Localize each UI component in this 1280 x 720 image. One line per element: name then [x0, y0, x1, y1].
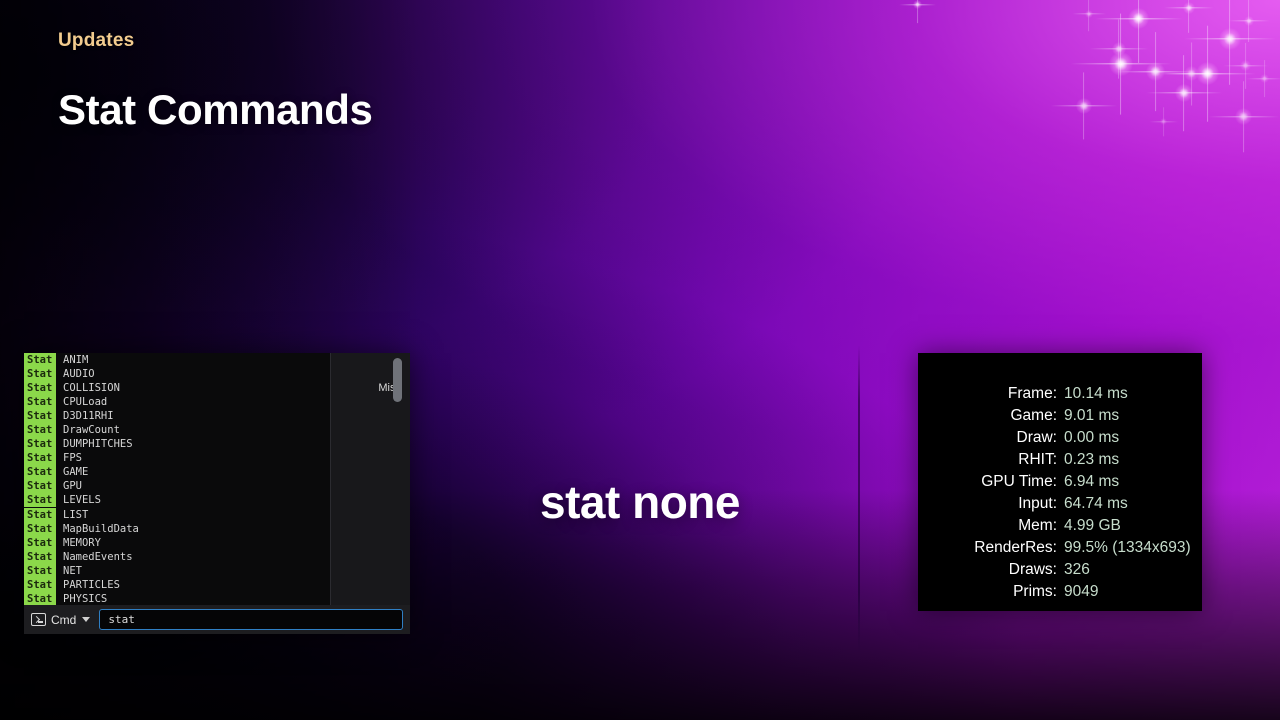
suggestion-category-tag: Stat — [24, 508, 56, 522]
stat-row: Mem:4.99 GB — [918, 517, 1202, 539]
suggestion-category-tag: Stat — [24, 395, 56, 409]
suggestion-row[interactable]: StatCPULoad — [24, 395, 330, 409]
console-command-input-value: stat — [108, 613, 135, 626]
stat-value: 9049 — [1057, 583, 1202, 601]
stat-row: Draw:0.00 ms — [918, 429, 1202, 451]
suggestion-row[interactable]: StatGPU — [24, 479, 330, 493]
suggestion-category-tag: Stat — [24, 493, 56, 507]
stat-row: Frame:10.14 ms — [918, 385, 1202, 407]
suggestion-row[interactable]: StatNamedEvents — [24, 550, 330, 564]
suggestion-row[interactable]: StatGAME — [24, 465, 330, 479]
suggestion-category-tag: Stat — [24, 437, 56, 451]
stat-row: RHIT:0.23 ms — [918, 451, 1202, 473]
suggestion-row[interactable]: StatAUDIO — [24, 367, 330, 381]
suggestion-command-name: NamedEvents — [56, 550, 330, 564]
suggestion-row[interactable]: StatLIST — [24, 508, 330, 522]
suggestion-category-tag: Stat — [24, 479, 56, 493]
stat-value: 99.5% (1334x693) — [1057, 539, 1202, 557]
console-input-bar: Cmd stat — [24, 605, 410, 634]
suggestion-category-tag: Stat — [24, 536, 56, 550]
stat-label: Input: — [918, 495, 1057, 513]
console-suggestion-list[interactable]: StatANIMStatAUDIOStatCOLLISIONStatCPULoa… — [24, 353, 330, 605]
suggestion-category-tag: Stat — [24, 550, 56, 564]
unreal-console-window[interactable]: StatANIMStatAUDIOStatCOLLISIONStatCPULoa… — [24, 353, 410, 634]
suggestion-command-name: MEMORY — [56, 536, 330, 550]
suggestion-category-tag: Stat — [24, 522, 56, 536]
suggestion-category-tag: Stat — [24, 381, 56, 395]
chevron-down-icon[interactable] — [82, 617, 90, 622]
suggestion-row[interactable]: StatCOLLISION — [24, 381, 330, 395]
suggestion-category-tag: Stat — [24, 592, 56, 605]
suggestion-command-name: AUDIO — [56, 367, 330, 381]
suggestion-row[interactable]: StatMEMORY — [24, 536, 330, 550]
stat-label: Mem: — [918, 517, 1057, 535]
suggestion-command-name: DrawCount — [56, 423, 330, 437]
stat-value: 4.99 GB — [1057, 517, 1202, 535]
vertical-divider — [858, 345, 860, 655]
slide-background: Updates Stat Commands stat none StatANIM… — [0, 0, 1280, 720]
stat-label: RHIT: — [918, 451, 1057, 469]
stat-value: 64.74 ms — [1057, 495, 1202, 513]
suggestion-command-name: PARTICLES — [56, 578, 330, 592]
suggestion-row[interactable]: StatNET — [24, 564, 330, 578]
stat-row: GPU Time:6.94 ms — [918, 473, 1202, 495]
stat-label: Prims: — [918, 583, 1057, 601]
stat-label: RenderRes: — [918, 539, 1057, 557]
stat-value: 6.94 ms — [1057, 473, 1202, 491]
terminal-icon — [31, 613, 46, 626]
suggestion-category-tag: Stat — [24, 353, 56, 367]
stat-row: Game:9.01 ms — [918, 407, 1202, 429]
cmd-mode-label: Cmd — [51, 613, 76, 627]
suggestion-row[interactable]: StatD3D11RHI — [24, 409, 330, 423]
suggestion-command-name: LEVELS — [56, 493, 330, 507]
suggestion-command-name: D3D11RHI — [56, 409, 330, 423]
suggestion-row[interactable]: StatDUMPHITCHES — [24, 437, 330, 451]
cmd-mode-selector[interactable]: Cmd — [31, 613, 90, 627]
suggestion-row[interactable]: StatANIM — [24, 353, 330, 367]
stat-unit-overlay: Frame:10.14 msGame:9.01 msDraw:0.00 msRH… — [918, 353, 1202, 611]
suggestion-category-tag: Stat — [24, 367, 56, 381]
suggestion-row[interactable]: StatPARTICLES — [24, 578, 330, 592]
stat-row: RenderRes:99.5% (1334x693) — [918, 539, 1202, 561]
suggestion-row[interactable]: StatMapBuildData — [24, 522, 330, 536]
suggestion-scrollbar-thumb[interactable] — [393, 358, 402, 402]
stat-value: 0.23 ms — [1057, 451, 1202, 469]
suggestion-row[interactable]: StatFPS — [24, 451, 330, 465]
suggestion-row[interactable]: StatDrawCount — [24, 423, 330, 437]
stat-value: 10.14 ms — [1057, 385, 1202, 403]
suggestion-command-name: COLLISION — [56, 381, 330, 395]
stat-row: Prims:9049 — [918, 583, 1202, 605]
suggestion-category-tag: Stat — [24, 564, 56, 578]
suggestion-category-tag: Stat — [24, 578, 56, 592]
suggestion-category-tag: Stat — [24, 423, 56, 437]
stat-label: Draw: — [918, 429, 1057, 447]
stat-label: Frame: — [918, 385, 1057, 403]
suggestion-command-name: NET — [56, 564, 330, 578]
suggestion-command-name: MapBuildData — [56, 522, 330, 536]
suggestion-command-name: FPS — [56, 451, 330, 465]
stat-label: Draws: — [918, 561, 1057, 579]
stat-row: Input:64.74 ms — [918, 495, 1202, 517]
stat-label: Game: — [918, 407, 1057, 425]
suggestion-category-tag: Stat — [24, 409, 56, 423]
suggestion-command-name: PHYSICS — [56, 592, 330, 605]
suggestion-command-name: ANIM — [56, 353, 330, 367]
stat-value: 9.01 ms — [1057, 407, 1202, 425]
suggestion-row[interactable]: StatPHYSICS — [24, 592, 330, 605]
suggestion-command-name: GAME — [56, 465, 330, 479]
suggestion-command-name: DUMPHITCHES — [56, 437, 330, 451]
suggestion-category-tag: Stat — [24, 451, 56, 465]
slide-eyebrow: Updates — [58, 30, 134, 52]
suggestion-command-name: LIST — [56, 508, 330, 522]
stat-value: 0.00 ms — [1057, 429, 1202, 447]
suggestion-category-tag: Stat — [24, 465, 56, 479]
stat-value: 326 — [1057, 561, 1202, 579]
suggestion-command-name: CPULoad — [56, 395, 330, 409]
suggestion-row[interactable]: StatLEVELS — [24, 493, 330, 507]
page-title: Stat Commands — [58, 86, 373, 134]
stat-label: GPU Time: — [918, 473, 1057, 491]
stat-row: Draws:326 — [918, 561, 1202, 583]
console-command-input[interactable]: stat — [99, 609, 403, 630]
console-body: StatANIMStatAUDIOStatCOLLISIONStatCPULoa… — [24, 353, 410, 605]
suggestion-command-name: GPU — [56, 479, 330, 493]
